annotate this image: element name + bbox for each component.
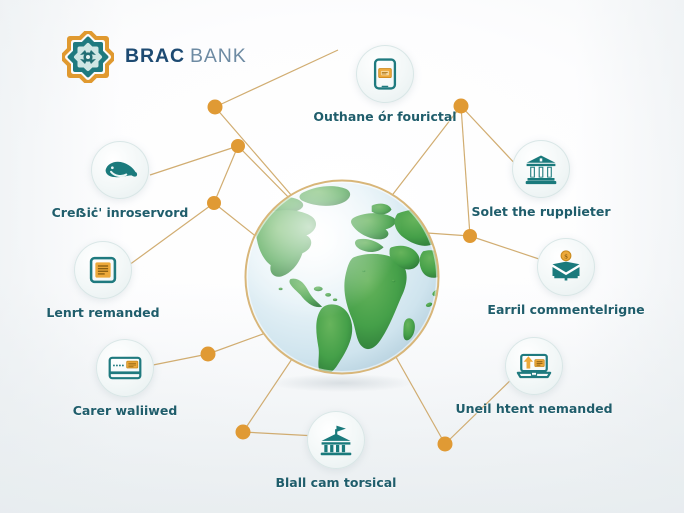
node-label: Solet the rupplieter: [471, 205, 610, 219]
node-earnings-exchange[interactable]: $ Earril commentelrigne: [491, 238, 641, 317]
node-label: Lenrt remanded: [46, 306, 159, 320]
node-credit-services[interactable]: Creẞiċ' inroservord: [45, 141, 195, 220]
node-mobile-banking[interactable]: Outhane ór fourictal: [310, 45, 460, 124]
node-icon-bubble: [505, 337, 563, 395]
connector-dot: [438, 437, 453, 452]
connector-dot: [463, 229, 477, 243]
node-label: Blall cam torsical: [276, 476, 397, 490]
node-label: Carer waliiwed: [73, 404, 178, 418]
brand-word-primary: BRAC: [125, 45, 185, 67]
whale-icon: [102, 152, 138, 188]
node-label: Uneil htent nemanded: [455, 402, 612, 416]
node-card-wallet[interactable]: Carer waliiwed: [50, 339, 200, 418]
node-label: Outhane ór fourictal: [313, 110, 456, 124]
money-envelope-icon: $: [548, 249, 584, 285]
connector-dot: [208, 100, 223, 115]
node-icon-bubble: $: [537, 238, 595, 296]
connector-dot: [207, 196, 221, 210]
node-icon-bubble: [91, 141, 149, 199]
brac-octagon-logo-icon: [62, 31, 114, 83]
credit-card-icon: [106, 351, 144, 385]
node-icon-bubble: [512, 140, 570, 198]
node-icon-bubble: [74, 241, 132, 299]
node-institution-supply[interactable]: Solet the rupplieter: [466, 140, 616, 219]
document-icon: [86, 253, 120, 287]
globe-svg: [243, 178, 441, 376]
globe-graphic: [243, 178, 441, 376]
node-icon-bubble: [356, 45, 414, 103]
bank-arrow-icon: [318, 422, 354, 458]
node-icon-bubble: [96, 339, 154, 397]
globe-shadow: [271, 374, 414, 392]
node-label: Creẞiċ' inroservord: [52, 206, 189, 220]
brand-wordmark: BRACBANK: [125, 47, 247, 67]
node-branch-network[interactable]: Blall cam torsical: [261, 411, 411, 490]
brand-word-secondary: BANK: [190, 45, 247, 67]
brand-lockup: BRACBANK: [62, 31, 247, 83]
node-digital-transfer[interactable]: Uneil htent nemanded: [459, 337, 609, 416]
node-label: Earril commentelrigne: [487, 303, 644, 317]
connector-dot: [236, 425, 251, 440]
connector-dot: [231, 139, 245, 153]
laptop-upload-icon: [515, 349, 553, 383]
tablet-icon: [367, 56, 403, 92]
bank-columns-icon: [523, 151, 559, 187]
node-loan-remittance[interactable]: Lenrt remanded: [28, 241, 178, 320]
infographic-canvas: BRACBANK Outhane ór fourictal: [0, 0, 684, 513]
node-icon-bubble: [307, 411, 365, 469]
connector-dot: [201, 347, 216, 362]
